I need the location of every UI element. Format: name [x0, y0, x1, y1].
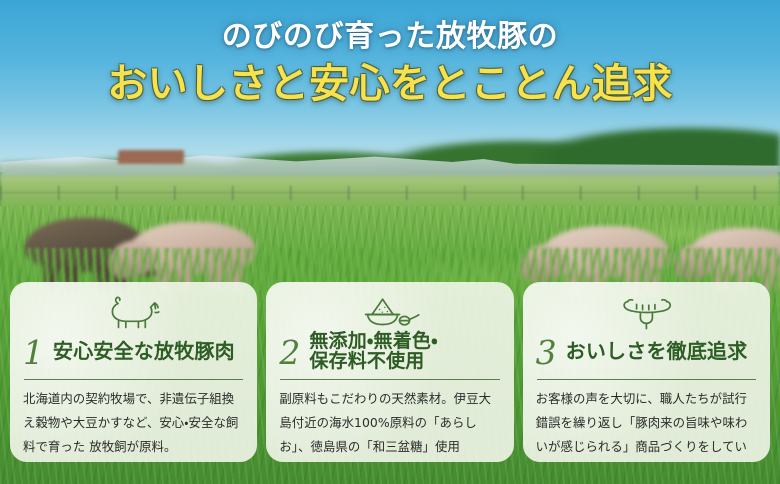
card-1-body: 北海道内の契約牧場で、非遺伝子組換え穀物や大豆かすなど、安心・安全な飼料で育った… — [23, 387, 244, 460]
headline: のびのび育った放牧豚の おいしさと安心をとことん追求 — [0, 22, 780, 104]
fence-line — [0, 186, 780, 200]
card-1-heading: 1 安心安全な放牧豚肉 — [23, 332, 244, 372]
card-3-number: 3 — [536, 336, 557, 369]
card-2-heading: 2 無添加・無着色・ 保存料不使用 — [279, 332, 500, 372]
headline-line-1: のびのび育った放牧豚の — [0, 22, 780, 52]
card-2-divider — [280, 379, 499, 380]
promo-banner: のびのび育った放牧豚の おいしさと安心をとことん追求 1 安心安全な放牧豚肉 — [0, 0, 780, 484]
headline-line-2: おいしさと安心をとことん追求 — [0, 64, 780, 104]
card-2-title: 無添加・無着色・ 保存料不使用 — [309, 332, 437, 372]
card-1-number: 1 — [23, 336, 44, 369]
sausage-fork-icon — [536, 291, 757, 331]
salt-bowl-icon — [279, 291, 500, 331]
card-1-divider — [24, 379, 243, 380]
feature-card-list: 1 安心安全な放牧豚肉 北海道内の契約牧場で、非遺伝子組換え穀物や大豆かすなど、… — [0, 282, 780, 462]
card-1-title: 安心安全な放牧豚肉 — [53, 341, 235, 363]
feature-card-3: 3 おいしさを徹底追求 お客様の声を大切に、職人たちが試行錯誤を繰り返し「豚肉来… — [523, 282, 770, 462]
card-3-heading: 3 おいしさを徹底追求 — [536, 332, 757, 372]
card-3-divider — [537, 379, 756, 380]
card-3-body: お客様の声を大切に、職人たちが試行錯誤を繰り返し「豚肉来の旨味や味わいが感じられ… — [536, 387, 757, 462]
card-2-number: 2 — [279, 336, 300, 369]
pig-icon — [23, 291, 244, 331]
card-3-title: おいしさを徹底追求 — [566, 341, 748, 363]
feature-card-1: 1 安心安全な放牧豚肉 北海道内の契約牧場で、非遺伝子組換え穀物や大豆かすなど、… — [10, 282, 257, 462]
card-2-body: 副原料もこだわりの天然素材。伊豆大島付近の海水100%原料の「あらしお」、徳島県… — [279, 387, 500, 460]
feature-card-2: 2 無添加・無着色・ 保存料不使用 副原料もこだわりの天然素材。伊豆大島付近の海… — [266, 282, 513, 462]
shed-roof — [118, 150, 184, 164]
